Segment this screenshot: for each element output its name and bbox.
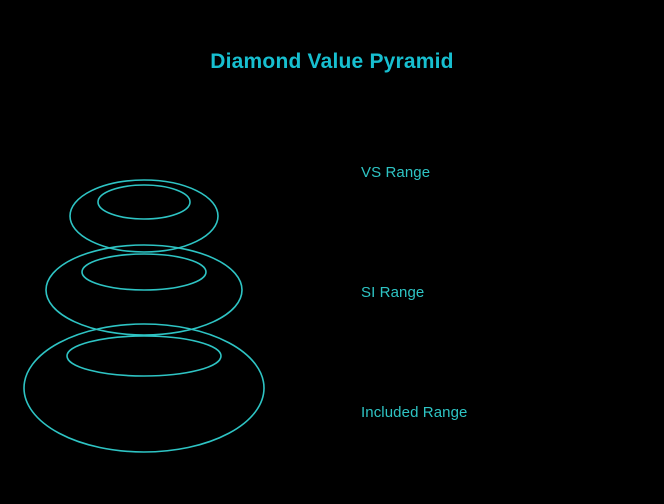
torus-inner-bottom — [67, 336, 221, 376]
torus-tier-middle — [46, 245, 242, 335]
torus-tier-bottom — [24, 324, 264, 452]
torus-inner-top — [98, 185, 190, 219]
torus-inner-middle — [82, 254, 206, 290]
tier-label-vs-range: VS Range — [361, 164, 430, 181]
torus-tier-top — [70, 180, 218, 252]
tier-label-included-range: Included Range — [361, 404, 467, 421]
pyramid-graphic — [0, 0, 664, 504]
tier-label-si-range: SI Range — [361, 284, 424, 301]
diagram-canvas: Diamond Value Pyramid VS Range SI Range … — [0, 0, 664, 504]
